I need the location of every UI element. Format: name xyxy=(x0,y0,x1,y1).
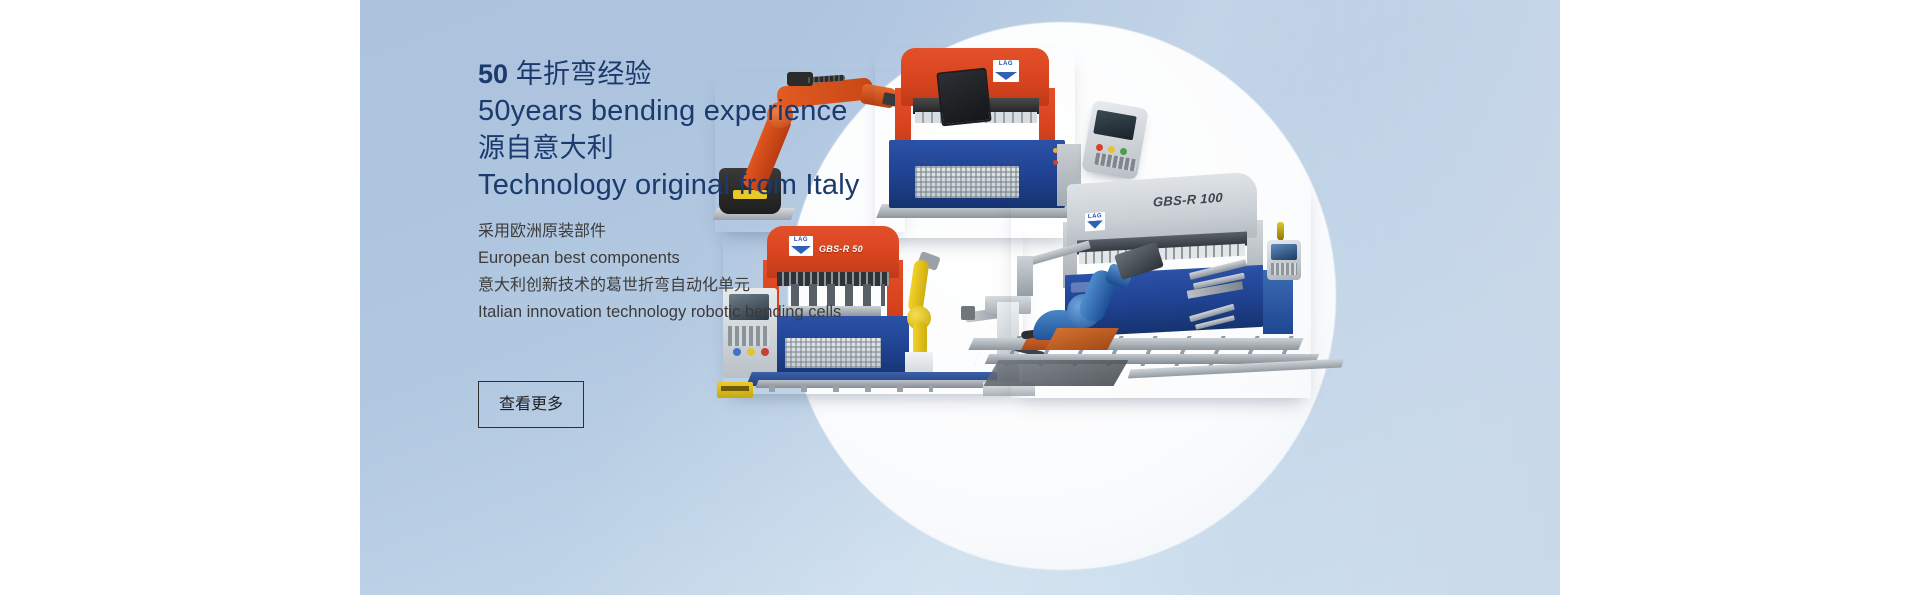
gbs100-pendant-screen xyxy=(1271,244,1297,260)
gbs100-model-label: GBS-R 100 xyxy=(1153,190,1223,210)
headline-text: 年折弯经验 xyxy=(508,59,652,89)
floor-clamp-yellow xyxy=(717,382,753,398)
gbs100-control-pendant xyxy=(1267,240,1301,280)
gbs50-console-button-blue xyxy=(733,348,741,356)
headline-line-1: 50 年折弯经验 xyxy=(478,56,1098,93)
subline-2: European best components xyxy=(478,245,1098,272)
gbs50-console-keypad xyxy=(728,326,770,346)
gbs50-console-button-red xyxy=(761,348,769,356)
subline-4: Italian innovation technology robotic be… xyxy=(478,299,1098,326)
headline-line-4: Technology original from Italy xyxy=(478,167,1098,204)
gbs50-support-feet xyxy=(743,384,933,392)
steel-profile-stack xyxy=(1189,266,1259,346)
clamp-slot xyxy=(721,386,749,391)
gbs100-floor-plate xyxy=(983,360,1128,386)
gbs50-console-button-yellow xyxy=(747,348,755,356)
subline-1: 采用欧洲原装部件 xyxy=(478,218,1098,245)
subline-3: 意大利创新技术的葛世折弯自动化单元 xyxy=(478,272,1098,299)
headline-block: 50 年折弯经验 50years bending experience 源自意大… xyxy=(478,56,1098,204)
page-root: LAG xyxy=(0,0,1920,595)
subheadline-block: 采用欧洲原装部件 European best components 意大利创新技… xyxy=(478,218,1098,326)
yellow-robot-lower-arm xyxy=(913,322,927,356)
headline-line-3: 源自意大利 xyxy=(478,130,1098,167)
hero-banner: LAG xyxy=(360,0,1560,595)
gbs100-signal-beacon xyxy=(1277,222,1284,240)
headline-number: 50 xyxy=(478,59,508,89)
view-more-button[interactable]: 查看更多 xyxy=(478,381,584,428)
gbs100-pendant-keypad xyxy=(1271,263,1297,275)
gbs100-workpiece-sheet xyxy=(1045,328,1119,350)
headline-line-2: 50years bending experience xyxy=(478,93,1098,130)
gbs50-vent-grille xyxy=(785,338,881,368)
